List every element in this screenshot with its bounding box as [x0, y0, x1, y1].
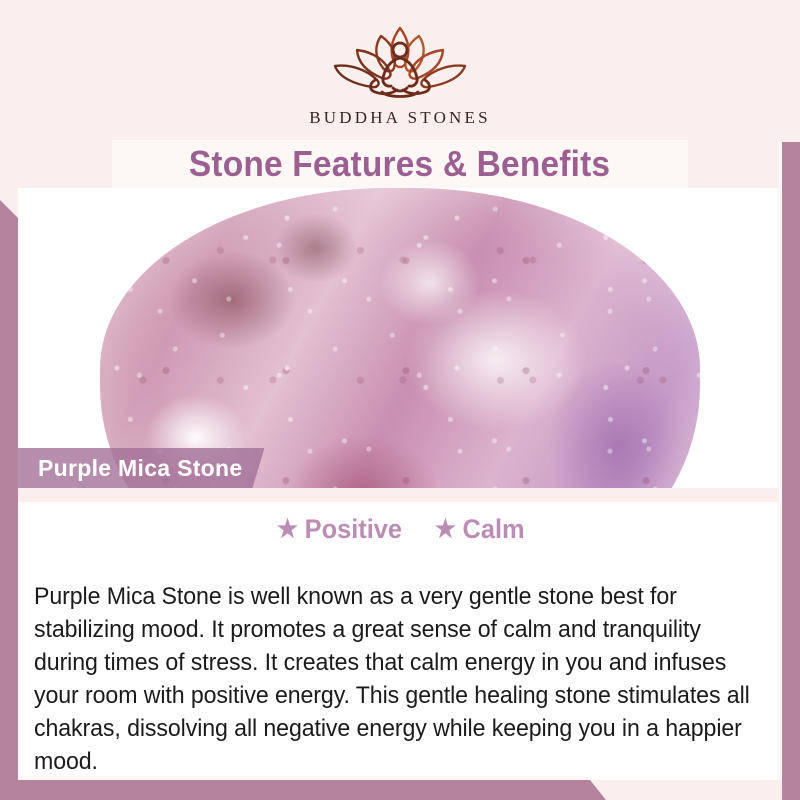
benefit-tags: ★ Positive ★ Calm [0, 514, 800, 545]
lotus-meditation-icon [325, 22, 475, 104]
page-title: Stone Features & Benefits [189, 143, 610, 185]
benefit-tag-label: Calm [462, 514, 524, 545]
stone-description: Purple Mica Stone is well known as a ver… [34, 580, 752, 778]
star-icon: ★ [435, 517, 456, 542]
stone-features-poster: BUDDHA STONES Stone Features & Benefits … [0, 0, 800, 800]
frame-bottom-accent [0, 780, 606, 800]
stone-name-badge: Purple Mica Stone [18, 448, 264, 488]
benefit-tag-calm: ★ Calm [435, 514, 525, 545]
benefit-tag-positive: ★ Positive [277, 514, 402, 545]
panel-top-strip [18, 488, 782, 502]
frame-left-accent [0, 197, 18, 800]
benefit-tag-label: Positive [304, 514, 401, 545]
brand-header: BUDDHA STONES [0, 0, 800, 142]
title-banner: Stone Features & Benefits [112, 140, 688, 188]
stone-name-label: Purple Mica Stone [38, 455, 242, 482]
star-icon: ★ [277, 517, 298, 542]
brand-name: BUDDHA STONES [309, 108, 491, 128]
